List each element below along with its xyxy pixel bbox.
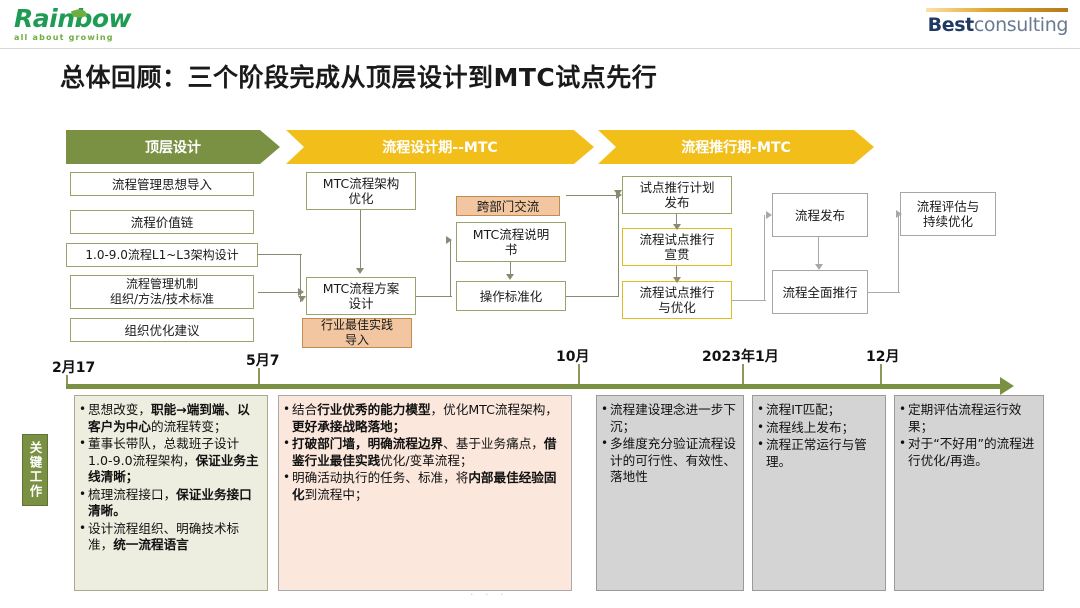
body-text: 多维度充分验证流程设计的可行性、有效性、落地性 [610,436,736,484]
key-work-panel-1[interactable]: 思想改变，职能→端到端、以客户为中心的流程转变；董事长带队，总裁班子设计1.0-… [74,395,268,591]
panel-list-item: 梳理流程接口，保证业务接口清晰。 [79,487,261,520]
timeline-label-2: 5月7 [246,350,279,370]
page-title: 总体回顾：三个阶段完成从顶层设计到MTC试点先行 [60,58,657,94]
connector-arrow-icon [673,277,681,283]
flow-box-col2-6[interactable]: 操作标准化 [456,281,566,311]
panel-list-item: 流程线上发布； [757,420,879,437]
flow-box-col3-6[interactable]: 流程评估与 持续优化 [900,192,996,236]
flow-box-col2-1[interactable]: MTC流程架构 优化 [306,172,416,210]
flow-box-col1-3[interactable]: 1.0-9.0流程L1~L3架构设计 [66,243,258,267]
rainbow-logo: Rainbow all about growing [14,6,154,46]
body-text: 定期评估流程运行效果； [908,402,1021,434]
body-text: 流程线上发布； [766,420,854,435]
connector-arrow-icon [506,274,514,280]
panel-list-item: 打破部门墙，明确流程边界、基于业务痛点，借鉴行业最佳实践优化/变革流程； [283,436,565,469]
emphasis-text: 更好承接战略落地； [292,419,405,434]
panel-list-item: 思想改变，职能→端到端、以客户为中心的流程转变； [79,402,261,435]
connector-line [818,237,819,266]
flow-box-col2-5[interactable]: MTC流程说明 书 [456,222,566,262]
timeline-tick-5 [880,364,882,384]
panel-list: 定期评估流程运行效果；对于“不好用”的流程进行优化/再造。 [899,402,1037,469]
timeline-arrowhead-icon [1000,377,1014,395]
connector-arrow-icon [896,210,902,218]
flow-box-col1-4[interactable]: 流程管理机制 组织/方法/技术标准 [70,275,254,309]
panel-list-item: 流程建设理念进一步下沉； [601,402,737,435]
connector-arrow-icon [298,296,306,302]
panel-list: 流程IT匹配；流程线上发布；流程正常运行与管理。 [757,402,879,470]
key-work-panel-3[interactable]: 流程建设理念进一步下沉；多维度充分验证流程设计的可行性、有效性、落地性 [596,395,744,591]
body-text: 流程IT匹配； [766,402,840,417]
panel-list-item: 流程正常运行与管理。 [757,437,879,470]
timeline-axis [66,384,1002,389]
body-text: 到流程中； [305,487,368,502]
watermark: · · · [470,588,507,601]
timeline-tick-2 [258,368,260,384]
flow-box-col3-4[interactable]: 流程发布 [772,193,868,237]
panel-list-item: 明确活动执行的任务、标准，将内部最佳经验固化到流程中； [283,470,565,503]
header-divider [0,48,1080,49]
best-consulting-rest: consulting [974,14,1068,36]
panel-list: 思想改变，职能→端到端、以客户为中心的流程转变；董事长带队，总裁班子设计1.0-… [79,402,261,554]
emphasis-text: 行业优秀的能力模型 [317,402,430,417]
flow-box-col2-3[interactable]: 行业最佳实践 导入 [302,318,412,348]
connector-arrow-icon [766,211,772,219]
best-consulting-logo: Bestconsulting [918,8,1068,42]
timeline-tick-4 [742,364,744,384]
connector-line [566,296,618,297]
flow-box-col2-2[interactable]: MTC流程方案 设计 [306,277,416,315]
key-work-label: 关键工作 [22,434,48,506]
key-work-panel-5[interactable]: 定期评估流程运行效果；对于“不好用”的流程进行优化/再造。 [894,395,1044,591]
best-consulting-bar [926,8,1068,12]
connector-arrow-icon [356,268,364,274]
panel-list: 流程建设理念进一步下沉；多维度充分验证流程设计的可行性、有效性、落地性 [601,402,737,486]
flow-box-col1-1[interactable]: 流程管理思想导入 [70,172,254,196]
body-text: 思想改变， [88,402,151,417]
body-text: 流程建设理念进一步下沉； [610,402,736,434]
body-text: ，优化MTC流程架构， [431,402,558,417]
key-work-panel-4[interactable]: 流程IT匹配；流程线上发布；流程正常运行与管理。 [752,395,886,591]
connector-line [566,195,620,196]
flow-box-col2-4[interactable]: 跨部门交流 [456,196,560,216]
body-text: 、基于业务痛点， [443,436,544,451]
body-text: 对于“不好用”的流程进行优化/再造。 [908,436,1034,468]
body-text: 流程正常运行与管理。 [766,437,867,469]
connector-arrow-icon [673,224,681,230]
phase-banner-3[interactable]: 流程推行期-MTC [598,130,874,164]
flow-box-col3-5[interactable]: 流程全面推行 [772,270,868,314]
flow-box-col3-1[interactable]: 试点推行计划 发布 [622,176,732,214]
connector-arrow-icon [446,236,452,244]
rainbow-logo-tagline: all about growing [14,33,154,42]
panel-list-item: 设计流程组织、明确技术标准，统一流程语言 [79,521,261,554]
connector-line [360,210,361,272]
flow-box-col3-3[interactable]: 流程试点推行 与优化 [622,281,732,319]
connector-line [258,292,302,293]
body-text: 梳理流程接口， [88,487,176,502]
connector-line [416,296,452,297]
connector-line [732,300,766,301]
emphasis-text: 统一流程语言 [113,537,189,552]
panel-list-item: 多维度充分验证流程设计的可行性、有效性、落地性 [601,436,737,486]
panel-list: 结合行业优秀的能力模型，优化MTC流程架构，更好承接战略落地；打破部门墙，明确流… [283,402,565,503]
emphasis-text: 打破部门墙，明确流程边界 [292,436,443,451]
panel-list-item: 对于“不好用”的流程进行优化/再造。 [899,436,1037,469]
panel-list-item: 结合行业优秀的能力模型，优化MTC流程架构，更好承接战略落地； [283,402,565,435]
timeline-label-5: 12月 [866,346,899,366]
timeline-tick-3 [578,364,580,384]
phase-banner-2[interactable]: 流程设计期--MTC [286,130,594,164]
flow-box-col3-2[interactable]: 流程试点推行 宣贯 [622,228,732,266]
panel-list-item: 董事长带队，总裁班子设计1.0-9.0流程架构，保证业务主线清晰； [79,436,261,486]
body-text: 明确活动执行的任务、标准，将 [292,470,468,485]
flow-box-col1-5[interactable]: 组织优化建议 [70,318,254,342]
timeline-label-4: 2023年1月 [702,346,779,366]
flow-box-col1-2[interactable]: 流程价值链 [70,210,254,234]
best-consulting-wordmark: Bestconsulting [918,13,1068,37]
body-text: 的流程转变； [151,419,227,434]
connector-line [450,240,451,297]
connector-line [618,195,619,297]
phase-banner-1[interactable]: 顶层设计 [66,130,280,164]
panel-list-item: 流程IT匹配； [757,402,879,419]
connector-arrow-icon [815,264,823,270]
key-work-panel-2[interactable]: 结合行业优秀的能力模型，优化MTC流程架构，更好承接战略落地；打破部门墙，明确流… [278,395,572,591]
connector-arrow-icon [298,288,304,296]
timeline-label-1: 2月17 [52,357,95,377]
connector-line [764,215,765,301]
best-consulting-bold: Best [928,14,974,36]
body-text: 优化/变革流程； [380,453,472,468]
connector-line [258,254,302,255]
panel-list-item: 定期评估流程运行效果； [899,402,1037,435]
timeline-label-3: 10月 [556,346,589,366]
connector-arrow-icon [616,191,622,199]
connector-line [898,214,899,293]
body-text: 结合 [292,402,317,417]
connector-line [868,292,900,293]
